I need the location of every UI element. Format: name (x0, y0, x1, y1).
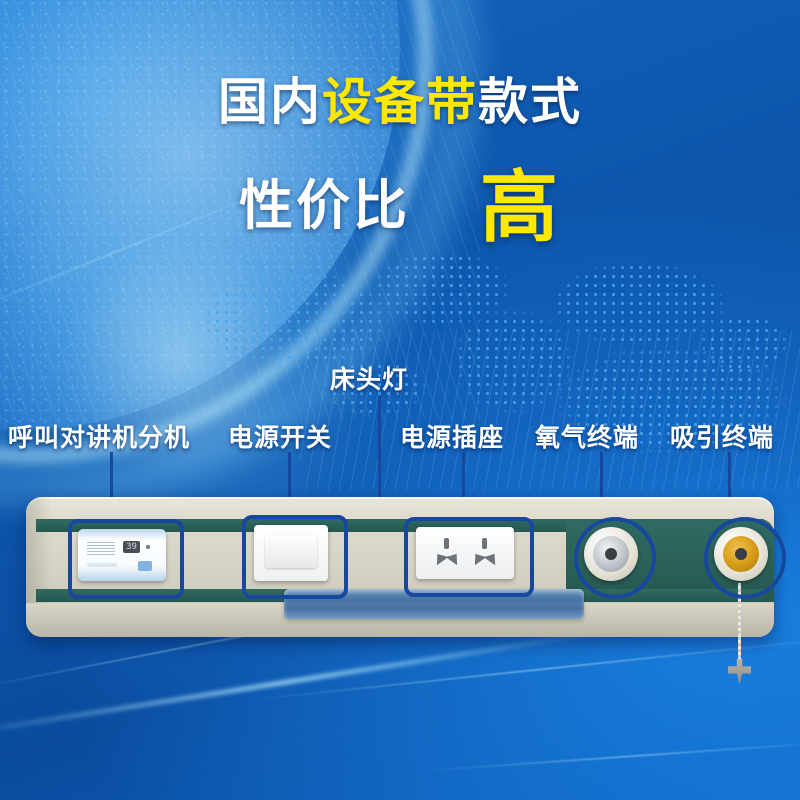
highlight-circle-suction (704, 517, 786, 599)
highlight-box-power-switch (242, 515, 348, 599)
callout-label-suction-terminal: 吸引终端 (670, 418, 774, 454)
medical-bed-head-unit: 39 (26, 497, 774, 637)
callout-layer: 呼叫对讲机分机 电源开关 床头灯 电源插座 氧气终端 吸引终端 (0, 0, 800, 800)
callout-label-intercom: 呼叫对讲机分机 (8, 418, 190, 454)
callout-label-oxygen-terminal: 氧气终端 (535, 418, 639, 454)
highlight-box-intercom (68, 519, 184, 599)
product-banner: 国内设备带款式 性价比 高 呼叫对讲机分机 电源开关 床头灯 电源插座 氧气终端… (0, 0, 800, 800)
callout-label-power-switch: 电源开关 (228, 418, 332, 454)
callout-label-bed-lamp: 床头灯 (330, 360, 408, 396)
highlight-box-power-socket (404, 517, 534, 597)
callout-label-power-socket: 电源插座 (400, 418, 504, 454)
highlight-circle-oxygen (574, 517, 656, 599)
